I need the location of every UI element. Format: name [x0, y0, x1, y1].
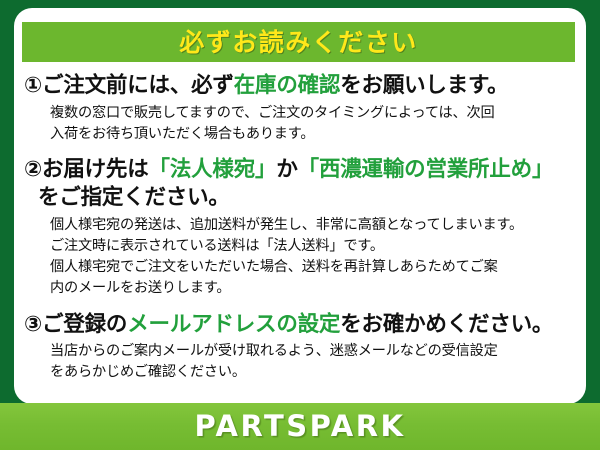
notice-item-1-marker: ①	[24, 73, 42, 98]
notice-item-2-heading-highlight-2: 「西濃運輸の営業所止め」	[298, 157, 554, 182]
notice-item-2-heading-part-3: か	[276, 157, 297, 182]
notice-item-2-heading: ②お届け先は「法人様宛」か「西濃運輸の営業所止め」をご指定ください。	[24, 156, 578, 213]
notice-item-1-body-line-1: 複数の窓口で販売してますので、ご注文のタイミングによっては、次回	[50, 103, 578, 124]
notice-item-2-body-line-3: 個人様宅宛でご注文をいただいた場合、送料を再計算しあらためてご案	[50, 257, 578, 278]
notice-item-2-body: 個人様宅宛の発送は、追加送料が発生し、非常に高額となってしまいます。 ご注文時に…	[24, 215, 578, 299]
notice-items-list: ①ご注文前には、必ず在庫の確認をお願いします。 複数の窓口で販売してますので、ご…	[14, 68, 586, 386]
notice-item-1-heading: ①ご注文前には、必ず在庫の確認をお願いします。	[24, 72, 578, 101]
notice-item-2-heading-line-2: をご指定ください。	[24, 184, 578, 213]
notice-item-2-heading-highlight-1: 「法人様宛」	[149, 157, 277, 182]
notice-item-2: ②お届け先は「法人様宛」か「西濃運輸の営業所止め」をご指定ください。 個人様宅宛…	[24, 156, 578, 299]
notice-card: 必ずお読みください ①ご注文前には、必ず在庫の確認をお願いします。 複数の窓口で…	[14, 8, 586, 404]
notice-item-2-heading-part-1: お届け先は	[42, 157, 149, 182]
notice-item-1: ①ご注文前には、必ず在庫の確認をお願いします。 複数の窓口で販売してますので、ご…	[24, 72, 578, 145]
notice-item-2-body-line-4: 内のメールをお送りします。	[50, 278, 578, 299]
notice-item-3-heading-part-3: をお確かめください。	[340, 312, 553, 337]
notice-item-1-heading-highlight: 在庫の確認	[234, 73, 341, 98]
notice-item-3-heading-part-1: ご登録の	[42, 312, 127, 337]
notice-item-3-marker: ③	[24, 312, 42, 337]
notice-banner: 必ずお読みください ①ご注文前には、必ず在庫の確認をお願いします。 複数の窓口で…	[0, 0, 600, 450]
notice-item-3-heading: ③ご登録のメールアドレスの設定をお確かめください。	[24, 311, 578, 340]
notice-item-3-heading-highlight: メールアドレスの設定	[127, 312, 340, 337]
notice-item-1-heading-part-3: をお願いします。	[340, 73, 508, 98]
notice-title: 必ずお読みください	[179, 30, 418, 55]
notice-item-3-body-line-1: 当店からのご案内メールが受け取れるよう、迷惑メールなどの受信設定	[50, 341, 578, 362]
brand-footer: PARTSPARK	[0, 403, 600, 450]
notice-item-3-body: 当店からのご案内メールが受け取れるよう、迷惑メールなどの受信設定 をあらかじめご…	[24, 341, 578, 383]
brand-name: PARTSPARK	[194, 412, 405, 441]
notice-item-3-body-line-2: をあらかじめご確認ください。	[50, 362, 578, 383]
notice-item-2-body-line-2: ご注文時に表示されている送料は「法人送料」です。	[50, 236, 578, 257]
notice-item-2-body-line-1: 個人様宅宛の発送は、追加送料が発生し、非常に高額となってしまいます。	[50, 215, 578, 236]
notice-item-3: ③ご登録のメールアドレスの設定をお確かめください。 当店からのご案内メールが受け…	[24, 311, 578, 384]
notice-item-1-body-line-2: 入荷をお待ち頂いただく場合もあります。	[50, 124, 578, 145]
notice-title-bar: 必ずお読みください	[22, 22, 575, 62]
notice-item-1-heading-part-1: ご注文前には、必ず	[42, 73, 234, 98]
notice-item-2-marker: ②	[24, 157, 42, 182]
notice-item-1-body: 複数の窓口で販売してますので、ご注文のタイミングによっては、次回 入荷をお待ち頂…	[24, 103, 578, 145]
